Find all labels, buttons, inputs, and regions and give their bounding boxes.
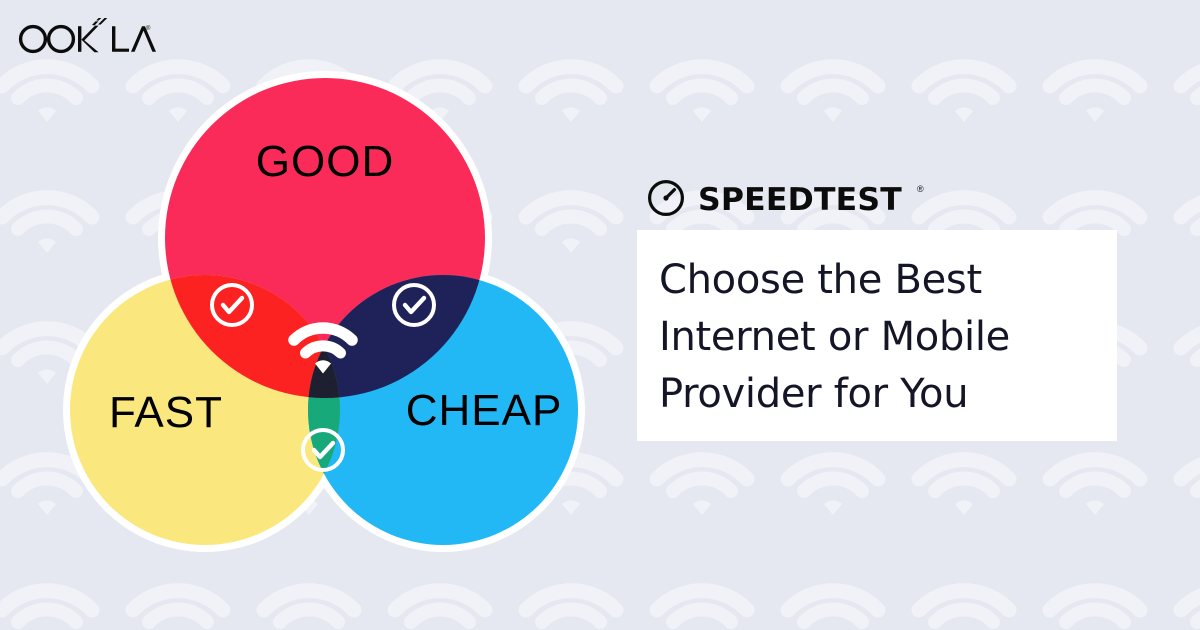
poster-canvas: ® OOKLA xyxy=(0,0,1200,630)
venn-label-cheap: CHEAP xyxy=(406,386,563,435)
venn-diagram: GOOD FAST CHEAP xyxy=(40,55,610,575)
speedtest-wordmark: SPEEDTEST xyxy=(698,182,902,218)
ookla-logo[interactable]: ® OOKLA xyxy=(16,18,156,58)
speedtest-trademark: ® xyxy=(917,184,924,194)
speedometer-gauge-icon xyxy=(650,182,683,215)
page-title: Choose the Best Internet or Mobile Provi… xyxy=(659,252,1089,423)
headline-card: Choose the Best Internet or Mobile Provi… xyxy=(637,230,1117,441)
venn-label-good: GOOD xyxy=(256,137,394,186)
ookla-trademark: ® xyxy=(146,25,151,32)
venn-label-fast: FAST xyxy=(109,388,223,437)
speedtest-logo[interactable]: SPEEDTEST ® xyxy=(646,178,932,218)
